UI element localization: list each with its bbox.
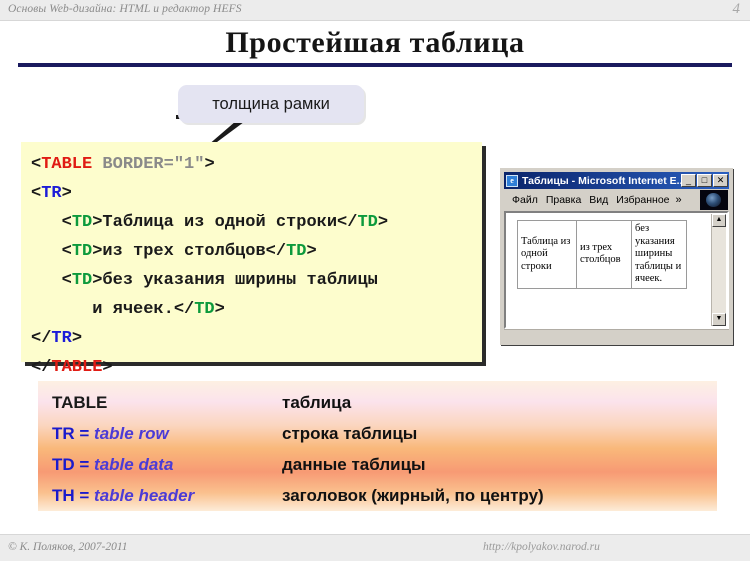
scroll-up-icon[interactable]: ▲ bbox=[712, 214, 726, 227]
code-token-td: TD bbox=[194, 300, 214, 319]
page-title: Простейшая таблица bbox=[0, 26, 750, 60]
code-token-plain: >Таблица из одной строки</ bbox=[92, 213, 357, 232]
code-token-plain: > bbox=[204, 155, 214, 174]
legend-code-1: TR = bbox=[52, 424, 94, 443]
menu-overflow-icon[interactable]: » bbox=[676, 194, 682, 206]
code-token-tr: TR bbox=[51, 329, 71, 348]
legend-code-0: TABLE bbox=[52, 393, 107, 412]
code-token-plain: < bbox=[31, 271, 72, 290]
code-token-plain: </ bbox=[31, 358, 51, 377]
legend-term-0: TABLE bbox=[52, 393, 282, 413]
code-token-plain: > bbox=[215, 300, 225, 319]
code-token-plain: < bbox=[31, 242, 72, 261]
list-item: TH = table header заголовок (жирный, по … bbox=[52, 480, 702, 511]
code-listing: <TABLE BORDER="1"><TR> <TD>Таблица из од… bbox=[21, 142, 482, 362]
code-line: </TABLE> bbox=[31, 353, 482, 382]
code-line: и ячеек.</TD> bbox=[31, 295, 482, 324]
code-token-plain: > bbox=[72, 329, 82, 348]
footer-url: http://kpolyakov.narod.ru bbox=[483, 541, 600, 553]
browser-menubar[interactable]: Файл Правка Вид Избранное » bbox=[504, 190, 729, 210]
legend-definition-2: данные таблицы bbox=[282, 455, 426, 475]
table-cell-3: без указания ширины таблицы и ячеек. bbox=[632, 221, 687, 289]
slide-footer-bar: © К. Поляков, 2007-2011 http://kpolyakov… bbox=[0, 534, 750, 561]
ie-app-icon: e bbox=[506, 175, 518, 187]
code-token-td: TD bbox=[72, 271, 92, 290]
code-token-plain: > bbox=[62, 184, 72, 203]
code-token-plain: > bbox=[102, 358, 112, 377]
close-button[interactable]: ✕ bbox=[713, 174, 728, 187]
code-token-plain: < bbox=[31, 213, 72, 232]
code-token-attr: BORDER="1" bbox=[102, 155, 204, 174]
list-item: TABLE таблица bbox=[52, 387, 702, 418]
footer-copyright: © К. Поляков, 2007-2011 bbox=[8, 541, 128, 553]
code-token-plain: </ bbox=[31, 329, 51, 348]
legend-definition-3: заголовок (жирный, по центру) bbox=[282, 486, 544, 506]
code-token-plain: > bbox=[306, 242, 316, 261]
code-token-plain: < bbox=[31, 155, 41, 174]
browser-window-title: Таблицы - Microsoft Internet E... bbox=[522, 175, 681, 187]
course-title: Основы Web-дизайна: HTML и редактор HEFS bbox=[8, 3, 242, 15]
menu-item-edit[interactable]: Правка bbox=[546, 194, 581, 206]
code-line: </TR> bbox=[31, 324, 482, 353]
legend-term-2: TD = table data bbox=[52, 455, 282, 475]
legend-code-3: TH = bbox=[52, 486, 94, 505]
code-token-plain: и ячеек.</ bbox=[31, 300, 194, 319]
legend-term-1: TR = table row bbox=[52, 424, 282, 444]
legend-expand-2: table data bbox=[94, 455, 173, 474]
code-token-td: TD bbox=[286, 242, 306, 261]
code-token-plain: >из трех столбцов</ bbox=[92, 242, 286, 261]
legend-expand-1: table row bbox=[94, 424, 169, 443]
browser-window[interactable]: e Таблицы - Microsoft Internet E... _ □ … bbox=[500, 168, 733, 345]
code-token-plain bbox=[92, 155, 102, 174]
browser-viewport: Таблица из одной строки из трех столбцов… bbox=[504, 211, 729, 329]
page-number: 4 bbox=[733, 1, 741, 18]
table-row: Таблица из одной строки из трех столбцов… bbox=[518, 221, 687, 289]
code-token-table: TABLE bbox=[41, 155, 92, 174]
code-token-td: TD bbox=[72, 242, 92, 261]
list-item: TD = table data данные таблицы bbox=[52, 449, 702, 480]
code-line: <TD>без указания ширины таблицы bbox=[31, 266, 482, 295]
slide-header-bar: Основы Web-дизайна: HTML и редактор HEFS… bbox=[0, 0, 750, 21]
legend-definition-0: таблица bbox=[282, 393, 351, 413]
title-divider-rule bbox=[18, 63, 732, 67]
tag-glossary-panel: TABLE таблица TR = table row строка табл… bbox=[38, 381, 717, 511]
browser-titlebar[interactable]: e Таблицы - Microsoft Internet E... _ □ … bbox=[504, 172, 729, 189]
code-token-plain: < bbox=[31, 184, 41, 203]
code-token-table: TABLE bbox=[51, 358, 102, 377]
rendered-html-table: Таблица из одной строки из трех столбцов… bbox=[517, 220, 687, 289]
minimize-button[interactable]: _ bbox=[681, 174, 696, 187]
legend-code-2: TD = bbox=[52, 455, 94, 474]
legend-term-3: TH = table header bbox=[52, 486, 282, 506]
code-token-plain: > bbox=[378, 213, 388, 232]
code-token-td: TD bbox=[72, 213, 92, 232]
legend-definition-1: строка таблицы bbox=[282, 424, 417, 444]
menu-item-favorites[interactable]: Избранное bbox=[616, 194, 669, 206]
code-token-plain: >без указания ширины таблицы bbox=[92, 271, 378, 290]
menu-item-view[interactable]: Вид bbox=[589, 194, 608, 206]
code-token-tr: TR bbox=[41, 184, 61, 203]
maximize-button[interactable]: □ bbox=[697, 174, 712, 187]
callout-label: толщина рамки bbox=[178, 85, 364, 123]
legend-expand-3: table header bbox=[94, 486, 194, 505]
table-cell-1: Таблица из одной строки bbox=[518, 221, 577, 289]
code-line: <TABLE BORDER="1"> bbox=[31, 150, 482, 179]
scroll-down-icon[interactable]: ▼ bbox=[712, 313, 726, 326]
code-line: <TD>Таблица из одной строки</TD> bbox=[31, 208, 482, 237]
table-cell-2: из трех столбцов bbox=[577, 221, 632, 289]
vertical-scrollbar[interactable]: ▲ ▼ bbox=[711, 214, 726, 326]
browser-statusbar bbox=[504, 329, 729, 341]
ie-logo-area bbox=[700, 190, 728, 210]
list-item: TR = table row строка таблицы bbox=[52, 418, 702, 449]
code-line: <TR> bbox=[31, 179, 482, 208]
ie-globe-icon bbox=[706, 193, 721, 207]
code-line: <TD>из трех столбцов</TD> bbox=[31, 237, 482, 266]
menu-item-file[interactable]: Файл bbox=[512, 194, 538, 206]
code-token-td: TD bbox=[357, 213, 377, 232]
